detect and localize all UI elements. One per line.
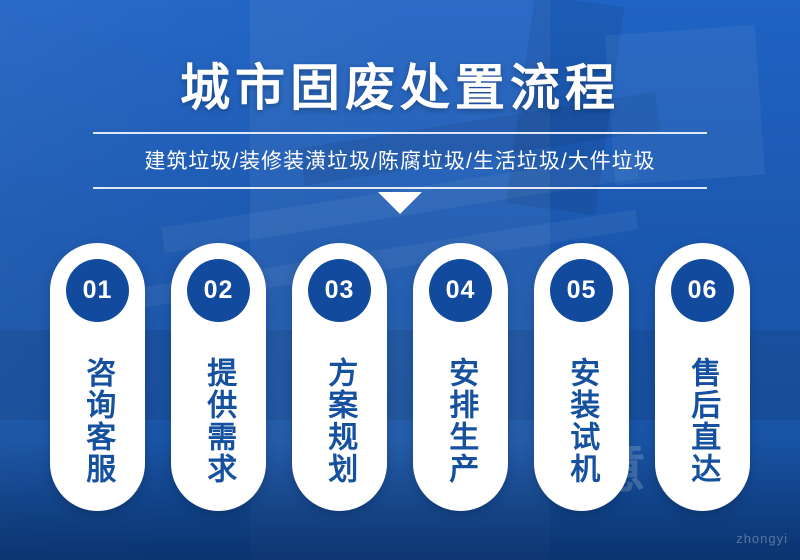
poster-canvas: 中意 zhongyi 城市固废处置流程 建筑垃圾/装修装潢垃圾/陈腐垃圾/生活垃… <box>0 0 800 560</box>
step-card-06: 06 售后直达 <box>655 243 750 511</box>
step-label: 咨询客服 <box>81 336 115 506</box>
step-label: 提供需求 <box>202 336 236 506</box>
watermark-small-text: zhongyi <box>736 531 788 546</box>
arrow-down-icon <box>378 192 422 214</box>
step-card-04: 04 安排生产 <box>413 243 508 511</box>
step-label: 售后直达 <box>686 336 720 506</box>
step-card-01: 01 咨询客服 <box>50 243 145 511</box>
step-number-badge: 02 <box>187 259 250 322</box>
step-label: 安排生产 <box>444 336 478 506</box>
page-title: 城市固废处置流程 <box>0 48 800 120</box>
step-number-badge: 01 <box>66 259 129 322</box>
process-steps: 01 咨询客服 02 提供需求 03 方案规划 04 安排生产 05 安装试机 … <box>50 243 750 511</box>
step-number-badge: 06 <box>671 259 734 322</box>
step-number-badge: 03 <box>308 259 371 322</box>
step-card-05: 05 安装试机 <box>534 243 629 511</box>
step-label: 方案规划 <box>323 336 357 506</box>
step-label: 安装试机 <box>565 336 599 506</box>
step-number-badge: 05 <box>550 259 613 322</box>
step-card-02: 02 提供需求 <box>171 243 266 511</box>
subtitle-band: 建筑垃圾/装修装潢垃圾/陈腐垃圾/生活垃圾/大件垃圾 <box>93 132 707 189</box>
subtitle-text: 建筑垃圾/装修装潢垃圾/陈腐垃圾/生活垃圾/大件垃圾 <box>93 145 707 175</box>
step-card-03: 03 方案规划 <box>292 243 387 511</box>
step-number-badge: 04 <box>429 259 492 322</box>
